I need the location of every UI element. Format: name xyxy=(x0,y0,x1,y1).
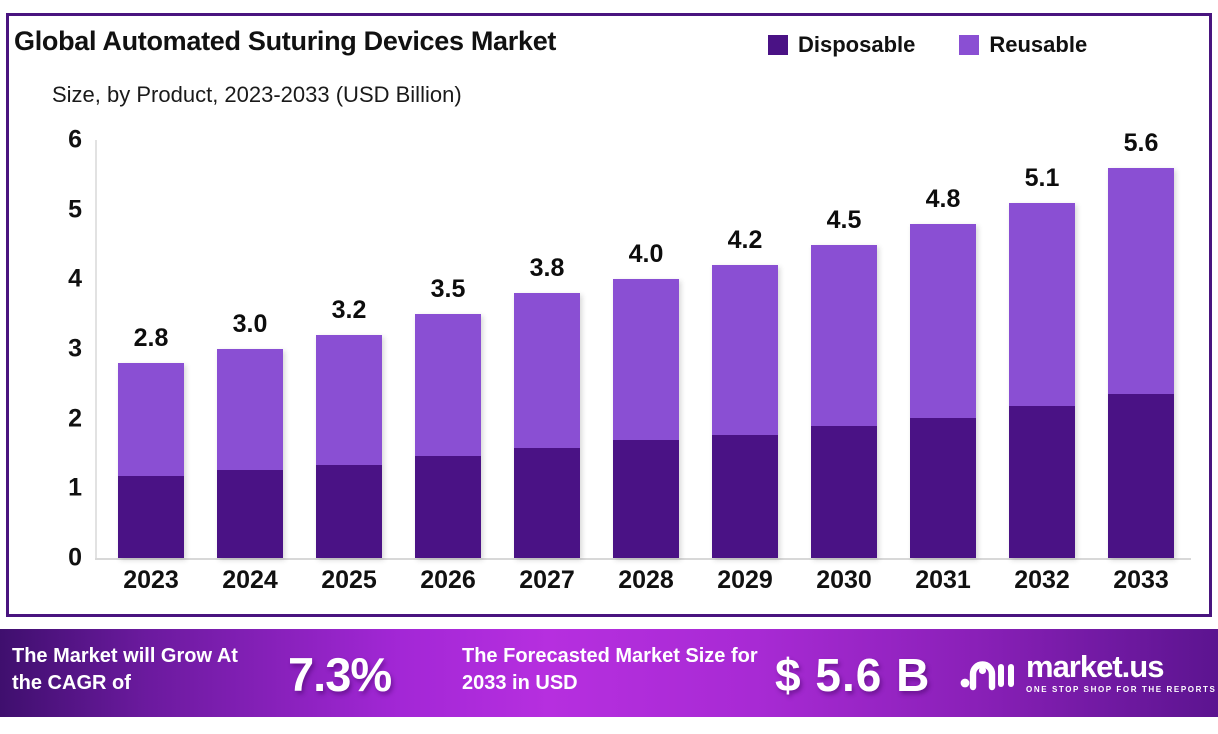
stacked-bar[interactable] xyxy=(910,224,976,558)
plot-area: 2.83.03.23.53.84.04.24.54.85.15.6 xyxy=(96,140,1191,558)
stacked-bar[interactable] xyxy=(1108,168,1174,558)
page-subtitle: Size, by Product, 2023-2033 (USD Billion… xyxy=(52,82,462,108)
bar-value-label: 2.8 xyxy=(96,324,206,353)
bar-value-label: 4.5 xyxy=(789,206,899,235)
bar-segment-reusable[interactable] xyxy=(910,224,976,418)
bar-value-label: 4.8 xyxy=(888,185,998,214)
x-axis-tick-label: 2033 xyxy=(1086,566,1196,595)
y-axis-tick-label: 5 xyxy=(22,195,82,224)
legend-label: Reusable xyxy=(989,32,1087,58)
x-axis-tick-label: 2023 xyxy=(96,566,206,595)
bar-segment-reusable[interactable] xyxy=(514,293,580,448)
bar-segment-reusable[interactable] xyxy=(811,245,877,426)
legend-item-disposable[interactable]: Disposable xyxy=(768,32,915,58)
stacked-bar[interactable] xyxy=(712,265,778,558)
bar-group: 3.2 xyxy=(316,335,382,558)
bar-value-label: 3.2 xyxy=(294,296,404,325)
y-axis-tick-label: 0 xyxy=(22,544,82,573)
y-axis-tick-label: 3 xyxy=(22,335,82,364)
y-axis-tick-label: 6 xyxy=(22,126,82,155)
logo-tagline: ONE STOP SHOP FOR THE REPORTS xyxy=(1026,685,1216,694)
bar-segment-disposable[interactable] xyxy=(910,418,976,558)
bar-group: 5.6 xyxy=(1108,168,1174,558)
bar-group: 4.8 xyxy=(910,224,976,558)
bar-segment-reusable[interactable] xyxy=(316,335,382,465)
legend-item-reusable[interactable]: Reusable xyxy=(959,32,1087,58)
bar-segment-reusable[interactable] xyxy=(1108,168,1174,394)
x-axis-tick-label: 2029 xyxy=(690,566,800,595)
x-axis-tick-label: 2030 xyxy=(789,566,899,595)
stacked-bar[interactable] xyxy=(118,363,184,558)
x-axis-tick-label: 2027 xyxy=(492,566,602,595)
logo-mark-icon xyxy=(960,653,1016,693)
bar-segment-reusable[interactable] xyxy=(217,349,283,470)
x-axis-line xyxy=(95,558,1191,560)
summary-banner: The Market will Grow At the CAGR of 7.3%… xyxy=(0,629,1218,717)
bar-segment-disposable[interactable] xyxy=(415,456,481,558)
bar-segment-disposable[interactable] xyxy=(712,435,778,558)
bar-value-label: 5.6 xyxy=(1086,129,1196,158)
logo-name: market.us xyxy=(1026,651,1216,682)
stacked-bar[interactable] xyxy=(415,314,481,558)
market-us-logo[interactable]: market.us ONE STOP SHOP FOR THE REPORTS xyxy=(960,651,1216,694)
page-title: Global Automated Suturing Devices Market xyxy=(14,26,556,57)
bar-segment-reusable[interactable] xyxy=(415,314,481,455)
stacked-bar[interactable] xyxy=(811,245,877,559)
bar-segment-reusable[interactable] xyxy=(712,265,778,434)
legend-swatch-icon xyxy=(768,35,788,55)
y-axis-tick-label: 1 xyxy=(22,474,82,503)
bar-group: 3.5 xyxy=(415,314,481,558)
x-axis-tick-label: 2028 xyxy=(591,566,701,595)
x-axis-tick-label: 2032 xyxy=(987,566,1097,595)
bar-segment-disposable[interactable] xyxy=(217,470,283,558)
bar-segment-disposable[interactable] xyxy=(613,440,679,558)
legend-label: Disposable xyxy=(798,32,915,58)
stacked-bar[interactable] xyxy=(217,349,283,558)
chart-legend: Disposable Reusable xyxy=(768,32,1087,58)
bar-group: 4.5 xyxy=(811,245,877,559)
x-axis-tick-label: 2026 xyxy=(393,566,503,595)
bar-segment-disposable[interactable] xyxy=(811,426,877,558)
legend-swatch-icon xyxy=(959,35,979,55)
bar-segment-disposable[interactable] xyxy=(514,448,580,558)
cagr-value: 7.3% xyxy=(288,647,391,702)
bar-segment-reusable[interactable] xyxy=(118,363,184,477)
bar-value-label: 5.1 xyxy=(987,164,1097,193)
bar-group: 4.2 xyxy=(712,265,778,558)
bar-group: 4.0 xyxy=(613,279,679,558)
y-axis-tick-label: 4 xyxy=(22,265,82,294)
x-axis-tick-label: 2031 xyxy=(888,566,998,595)
bar-segment-disposable[interactable] xyxy=(1108,394,1174,558)
stacked-bar[interactable] xyxy=(316,335,382,558)
bar-value-label: 3.5 xyxy=(393,275,503,304)
cagr-caption: The Market will Grow At the CAGR of xyxy=(12,643,272,697)
bar-segment-reusable[interactable] xyxy=(613,279,679,440)
bar-group: 5.1 xyxy=(1009,203,1075,558)
bar-value-label: 4.0 xyxy=(591,240,701,269)
bar-value-label: 3.8 xyxy=(492,254,602,283)
bar-group: 2.8 xyxy=(118,363,184,558)
stacked-bar[interactable] xyxy=(613,279,679,558)
bar-value-label: 4.2 xyxy=(690,226,800,255)
x-axis-tick-label: 2024 xyxy=(195,566,305,595)
x-axis-tick-label: 2025 xyxy=(294,566,404,595)
bar-group: 3.0 xyxy=(217,349,283,558)
bar-segment-disposable[interactable] xyxy=(1009,406,1075,558)
bar-value-label: 3.0 xyxy=(195,310,305,339)
bar-group: 3.8 xyxy=(514,293,580,558)
stacked-bar[interactable] xyxy=(514,293,580,558)
y-axis-tick-label: 2 xyxy=(22,404,82,433)
bar-segment-reusable[interactable] xyxy=(1009,203,1075,406)
forecast-value: $ 5.6 B xyxy=(775,648,930,702)
bar-segment-disposable[interactable] xyxy=(118,476,184,558)
forecast-caption: The Forecasted Market Size for 2033 in U… xyxy=(462,643,762,697)
bar-segment-disposable[interactable] xyxy=(316,465,382,558)
stacked-bar[interactable] xyxy=(1009,203,1075,558)
